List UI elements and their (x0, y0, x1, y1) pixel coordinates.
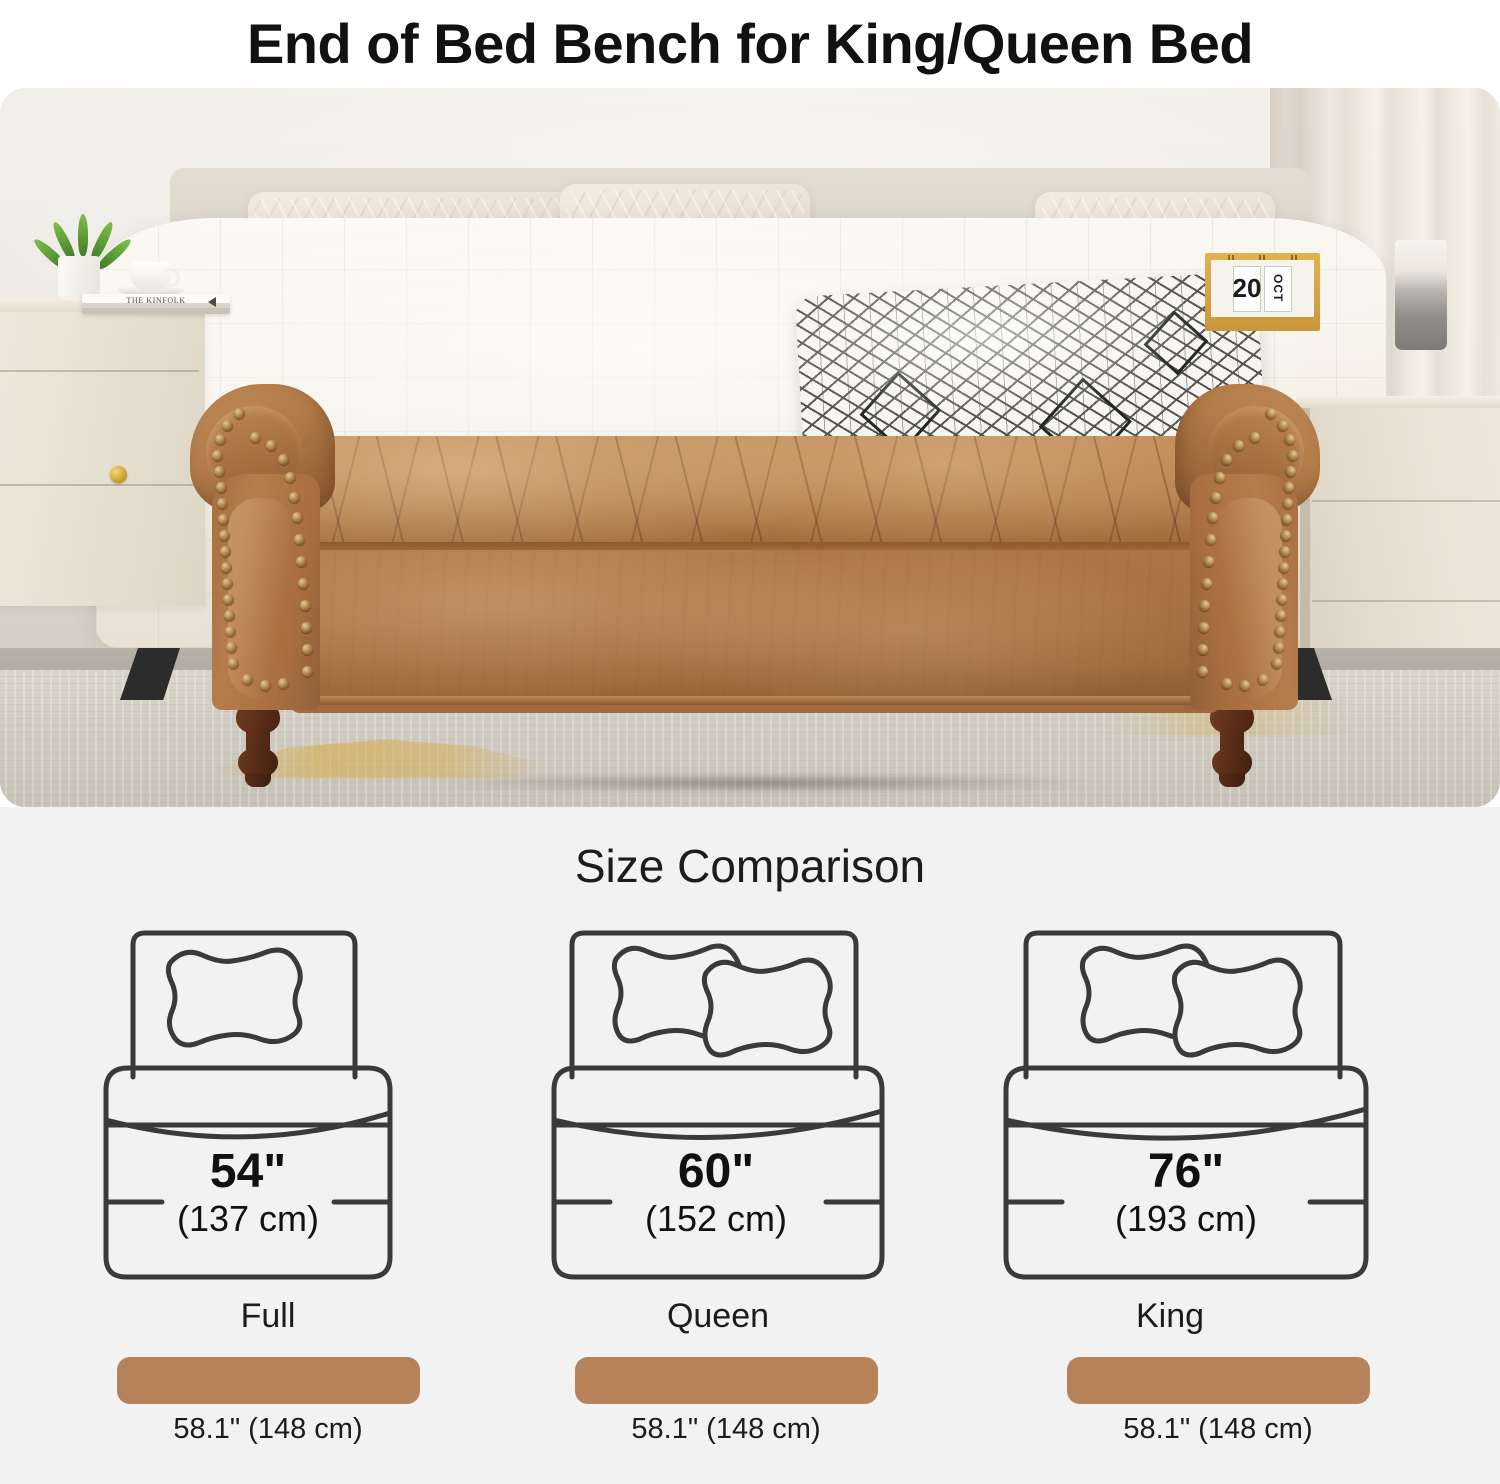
product-infographic-page: End of Bed Bench for King/Queen Bed (0, 0, 1500, 1484)
leather-storage-bench (180, 378, 1330, 798)
bed-outline-svg: 54" (137 cm) (98, 925, 438, 1285)
pillow-outline-front (704, 960, 830, 1055)
bench-bar-group-queen: 58.1" (148 cm) (556, 1357, 896, 1404)
bench-rolled-arm-right (1175, 378, 1320, 718)
plant-leaf (78, 214, 88, 256)
bed-diagram-queen: 60" (152 cm) Queen (548, 925, 888, 1345)
bed-width-cm: (193 cm) (1115, 1198, 1257, 1239)
bench-floor-shadow (300, 770, 1230, 796)
title-bar: End of Bed Bench for King/Queen Bed (0, 0, 1500, 88)
bench-front-panel (290, 550, 1225, 702)
bench-width-label: 58.1" (148 cm) (1048, 1413, 1388, 1446)
bench-bar-group-king: 58.1" (148 cm) (1048, 1357, 1388, 1404)
bed-width-cm: (152 cm) (645, 1198, 787, 1239)
bed-outline-svg: 60" (152 cm) (548, 925, 888, 1285)
potted-plant (60, 214, 104, 260)
nailhead-trim (1175, 378, 1320, 718)
bench-bottom-welt (290, 696, 1225, 705)
bench-width-bar-row: 58.1" (148 cm) 58.1" (148 cm) 58.1" (148… (0, 1357, 1500, 1484)
lifestyle-photo: THE KINFOLK 20 OCT (0, 88, 1500, 807)
calendar-day-digit: 20 (1233, 266, 1261, 312)
bench-rolled-arm-left (190, 378, 335, 718)
bed-outline-svg: 76" (193 cm) (1000, 925, 1370, 1285)
drawer-divider (1312, 500, 1500, 502)
bench-width-label: 58.1" (148 cm) (98, 1413, 438, 1446)
size-comparison-panel: Size Comparison 54" (137 cm) (0, 807, 1500, 1484)
book-triangle-icon (208, 297, 216, 307)
two-tone-vase (1395, 240, 1447, 350)
coffee-cup (131, 262, 171, 290)
bed-diagram-full: 54" (137 cm) Full (98, 925, 438, 1345)
drawer-divider (0, 370, 199, 372)
pillow-outline-front (1174, 960, 1300, 1055)
leather-grain (290, 550, 1225, 702)
book-stack: THE KINFOLK (82, 294, 230, 314)
calendar-month-label: OCT (1264, 266, 1292, 312)
bench-bar-group-full: 58.1" (148 cm) (98, 1357, 438, 1404)
bed-diagram-king: 76" (193 cm) King (1000, 925, 1340, 1345)
bed-diagram-row: 54" (137 cm) Full (0, 925, 1500, 1345)
bed-width-inches: 76" (1148, 1145, 1224, 1198)
bed-width-inches: 60" (678, 1145, 754, 1198)
nightstand-left (0, 306, 205, 606)
nightstand-right (1300, 404, 1500, 674)
bed-size-label-queen: Queen (548, 1297, 888, 1336)
bench-tufted-seat (284, 436, 1229, 548)
bed-width-cm: (137 cm) (177, 1198, 319, 1239)
bed-width-inches: 54" (210, 1145, 286, 1198)
bench-width-label: 58.1" (148 cm) (556, 1413, 896, 1446)
bench-width-bar (117, 1357, 420, 1404)
bed-size-label-full: Full (98, 1297, 438, 1336)
page-title: End of Bed Bench for King/Queen Bed (247, 16, 1253, 72)
flip-calendar: 20 OCT (1205, 253, 1320, 331)
brass-knob-icon (110, 466, 127, 483)
calendar-cards: 20 OCT (1211, 260, 1314, 317)
bed-size-label-king: King (1000, 1297, 1340, 1336)
pillow-outline (168, 950, 300, 1045)
bench-width-bar (575, 1357, 878, 1404)
drawer-divider (1312, 600, 1500, 602)
size-comparison-title: Size Comparison (0, 839, 1500, 893)
nailhead-trim (190, 378, 335, 718)
bench-width-bar (1067, 1357, 1370, 1404)
seat-highlight (284, 436, 1229, 548)
headboard-outline (133, 933, 355, 1077)
drawer-divider (0, 484, 199, 486)
